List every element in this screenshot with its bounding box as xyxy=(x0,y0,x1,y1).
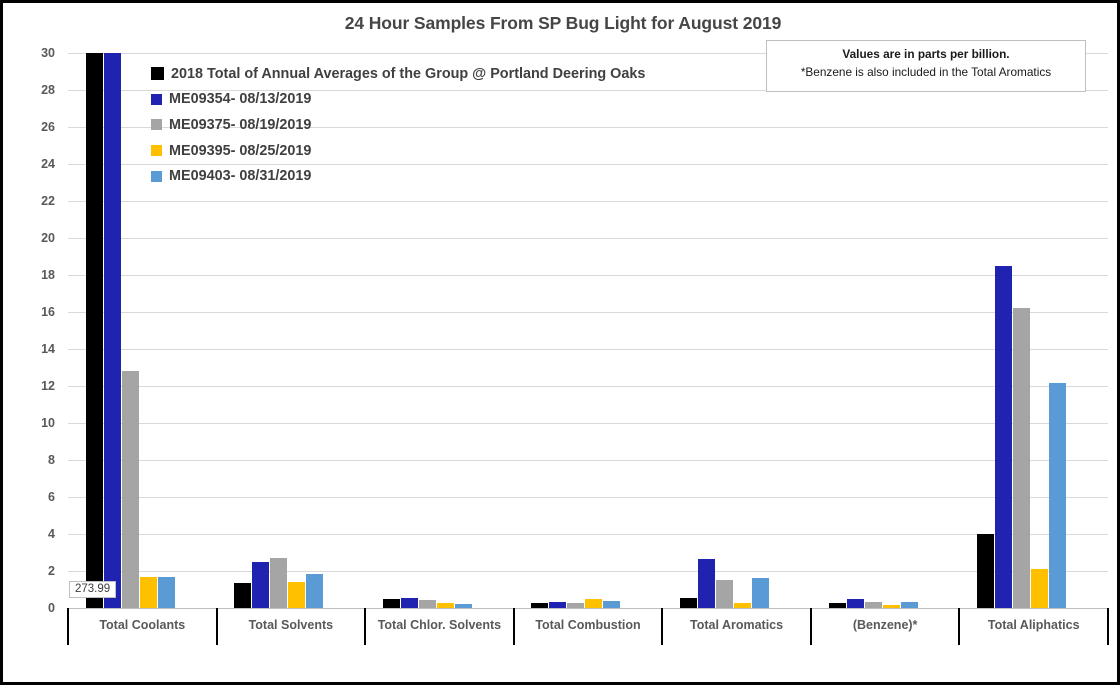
y-tick-label: 28 xyxy=(41,83,55,97)
note-box: Values are in parts per billion. *Benzen… xyxy=(766,40,1086,92)
bar xyxy=(383,599,400,608)
bar-group xyxy=(811,53,960,608)
chart-frame: 24 Hour Samples From SP Bug Light for Au… xyxy=(0,0,1120,685)
y-tick-label: 2 xyxy=(48,564,55,578)
legend-item[interactable]: ME09354- 08/13/2019 xyxy=(151,87,645,113)
legend: 2018 Total of Annual Averages of the Gro… xyxy=(151,61,645,189)
bar xyxy=(549,602,566,608)
x-tick-label: Total Solvents xyxy=(217,618,366,632)
bar xyxy=(567,603,584,608)
legend-label: ME09403- 08/31/2019 xyxy=(169,168,311,184)
bar xyxy=(716,580,733,608)
bar xyxy=(531,603,548,608)
legend-swatch-icon xyxy=(151,94,162,105)
legend-swatch-icon xyxy=(151,145,162,156)
y-tick-label: 26 xyxy=(41,120,55,134)
bar xyxy=(140,577,157,608)
bar xyxy=(901,602,918,608)
x-tick-label: (Benzene)* xyxy=(811,618,960,632)
x-tick-label: Total Combustion xyxy=(514,618,663,632)
y-tick-label: 16 xyxy=(41,305,55,319)
note-line-1: Values are in parts per billion. xyxy=(767,46,1085,63)
y-tick-label: 12 xyxy=(41,379,55,393)
bar xyxy=(252,562,269,608)
y-tick-label: 20 xyxy=(41,231,55,245)
bar xyxy=(1049,383,1066,608)
legend-label: ME09375- 08/19/2019 xyxy=(169,117,311,133)
bar xyxy=(1031,569,1048,608)
y-tick-label: 10 xyxy=(41,416,55,430)
bar xyxy=(680,598,697,608)
y-tick-label: 18 xyxy=(41,268,55,282)
bar xyxy=(122,371,139,608)
y-tick-label: 0 xyxy=(48,601,55,615)
data-label-273: 273.99 xyxy=(69,581,116,598)
legend-item[interactable]: 2018 Total of Annual Averages of the Gro… xyxy=(151,61,645,87)
bar xyxy=(865,602,882,608)
y-tick-label: 30 xyxy=(41,46,55,60)
x-tick-label: Total Aliphatics xyxy=(959,618,1108,632)
bar xyxy=(419,600,436,608)
bar xyxy=(270,558,287,608)
bar xyxy=(288,582,305,608)
bar-group xyxy=(959,53,1108,608)
y-tick-label: 24 xyxy=(41,157,55,171)
legend-swatch-icon xyxy=(151,119,162,130)
bar xyxy=(1013,308,1030,608)
x-tick-label: Total Coolants xyxy=(68,618,217,632)
bar xyxy=(455,604,472,608)
y-tick-label: 22 xyxy=(41,194,55,208)
legend-item[interactable]: ME09395- 08/25/2019 xyxy=(151,138,645,164)
bar xyxy=(437,603,454,608)
bar xyxy=(306,574,323,608)
bar xyxy=(829,603,846,608)
x-tick-label: Total Chlor. Solvents xyxy=(365,618,514,632)
bar xyxy=(603,601,620,608)
bar xyxy=(995,266,1012,608)
bar xyxy=(698,559,715,608)
legend-swatch-icon xyxy=(151,171,162,182)
legend-label: ME09395- 08/25/2019 xyxy=(169,143,311,159)
bar xyxy=(977,534,994,608)
legend-item[interactable]: ME09403- 08/31/2019 xyxy=(151,163,645,189)
bar xyxy=(585,599,602,608)
y-tick-label: 8 xyxy=(48,453,55,467)
legend-label: ME09354- 08/13/2019 xyxy=(169,91,311,107)
page-title: 24 Hour Samples From SP Bug Light for Au… xyxy=(3,13,1120,34)
bar xyxy=(734,603,751,608)
legend-swatch-icon xyxy=(151,67,164,80)
bar xyxy=(104,53,121,608)
bar-group xyxy=(662,53,811,608)
axis-baseline xyxy=(68,608,1108,609)
bar xyxy=(752,578,769,608)
bar xyxy=(86,53,103,608)
bar xyxy=(401,598,418,608)
x-tick-label: Total Aromatics xyxy=(662,618,811,632)
y-axis: 024681012141618202224262830 xyxy=(3,53,63,608)
note-line-2: *Benzene is also included in the Total A… xyxy=(767,63,1085,82)
legend-label: 2018 Total of Annual Averages of the Gro… xyxy=(171,66,645,82)
bar xyxy=(158,577,175,608)
bar xyxy=(234,583,251,608)
bar xyxy=(847,599,864,608)
y-tick-label: 4 xyxy=(48,527,55,541)
y-tick-label: 6 xyxy=(48,490,55,504)
legend-item[interactable]: ME09375- 08/19/2019 xyxy=(151,112,645,138)
bar xyxy=(883,605,900,608)
y-tick-label: 14 xyxy=(41,342,55,356)
